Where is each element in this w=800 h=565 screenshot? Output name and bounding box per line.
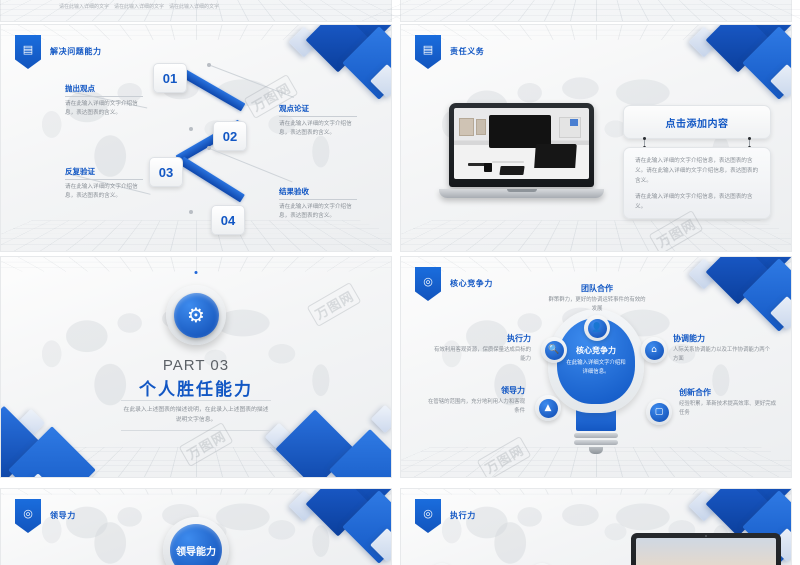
laptop-mockup (449, 103, 594, 198)
step-caption-1: 抛出观点 请在此输入详细的文字介绍信息，表达图表的含义。 (65, 83, 143, 117)
node-execution[interactable]: 🔍 (541, 337, 567, 363)
slide-header: ◎ 执行力 (415, 499, 476, 533)
ppt-template-preview: 请在此输入详细的文字 请在此输入详细的文字 请在此输入详细的文字 ▤ 解决问题能… (0, 0, 800, 565)
leadership-label: 领导能力 (170, 524, 222, 565)
step-number-2: 02 (213, 121, 247, 151)
node-leadership[interactable]: ▲ (535, 395, 561, 421)
accent-dot (195, 271, 198, 274)
gear-person-icon: ⚙ (174, 293, 219, 338)
bulb-title: 核心竞争力 (576, 345, 616, 356)
clipped-slide-left: 请在此输入详细的文字 请在此输入详细的文字 请在此输入详细的文字 (0, 0, 392, 22)
slide-header: ◎ 核心竞争力 (415, 267, 493, 301)
step-number-4: 04 (211, 205, 245, 235)
grid-floor (0, 221, 392, 251)
slide-header-title: 核心竞争力 (450, 278, 493, 289)
target-icon: ◎ (415, 267, 441, 301)
part-number: PART 03 (1, 357, 391, 374)
laptop-lid (449, 103, 594, 187)
caption-execution: 执行力 有效利用客观资源，保质保量达成目标的能力 (431, 333, 531, 363)
slide-header-title: 解决问题能力 (50, 46, 102, 57)
laptop-base (439, 189, 604, 198)
clipped-text: 请在此输入详细的文字 请在此输入详细的文字 请在此输入详细的文字 (59, 3, 219, 10)
slide-leadership[interactable]: ◎ 领导力 领导能力 (0, 488, 392, 565)
grid-floor (0, 447, 392, 477)
slide-header-title: 责任义务 (450, 46, 484, 57)
cap-icon: ▲ (539, 399, 558, 418)
slide-header: ▤ 责任义务 (415, 35, 484, 69)
medallion: ⚙ (166, 285, 226, 345)
watermark: 万图网 (477, 436, 532, 478)
node-team[interactable]: 👤 (584, 315, 610, 341)
content-panel-header[interactable]: 点击添加内容 (623, 105, 771, 139)
part-description: 在此录入上述图表的描述说明，在此录入上述图表的描述说明文字信息。 (121, 400, 271, 431)
grid-top (0, 488, 392, 495)
step-caption-3: 反复验证 请在此输入详细的文字介绍信息，表达图表的含义。 (65, 166, 143, 200)
grid-floor (400, 221, 792, 251)
leadership-circle: 领导能力 (163, 517, 229, 565)
grid-top (0, 256, 392, 271)
mobile-icon: ▢ (650, 403, 669, 422)
laptop-screen (454, 108, 589, 179)
bulb-desc: 在此输入详细文字介绍和详细信息。 (565, 359, 627, 376)
panel-paragraph-2: 请在此输入详细的文字介绍信息，表达图表的含义。 (635, 193, 759, 213)
caption-coordination: 协调能力 人际关系协调能力以及工作协调能力两个方面 (673, 333, 773, 363)
target-icon: ◎ (15, 499, 41, 533)
node-coordination[interactable]: ⌂ (641, 337, 667, 363)
target-icon: ◎ (415, 499, 441, 533)
slide-problem-solving[interactable]: ▤ 解决问题能力 01 02 03 04 抛出观点 请在此输入详细的文字介绍信息… (0, 24, 392, 252)
slide-header-title: 领导力 (50, 510, 76, 521)
step-number-1: 01 (153, 63, 187, 93)
home-icon: ⌂ (645, 341, 664, 360)
presentation-icon: ▤ (15, 35, 41, 69)
search-icon: 🔍 (545, 341, 564, 360)
panel-paragraph-1: 请在此输入详细的文字介绍信息，表达图表的含义。请在此输入详细的文字介绍信息，表达… (635, 157, 759, 186)
watermark: 万图网 (307, 282, 362, 327)
person-icon: 👤 (588, 319, 607, 338)
diamond-cluster-top-right (257, 488, 392, 565)
connector-bar-3 (179, 157, 245, 203)
presentation-icon: ▤ (415, 35, 441, 69)
panel-title: 点击添加内容 (666, 115, 729, 130)
content-panel-body: 请在此输入详细的文字介绍信息，表达图表的含义。请在此输入详细的文字介绍信息，表达… (623, 147, 771, 219)
slide-part-cover[interactable]: ⚙ PART 03 个人胜任能力 在此录入上述图表的描述说明，在此录入上述图表的… (0, 256, 392, 478)
slide-execution[interactable]: ◎ 执行力 制度执行力 依据规定制度执行任务 应急执行力 灵活应变，妥善处理意外 (400, 488, 792, 565)
caption-innovation: 创新合作 经验积累，革新技术提高效率、更好完成任务 (679, 387, 779, 417)
caption-team: 团队合作 群策群力，更好的协调运转事件的有效的发展 (547, 283, 647, 313)
diamond-cluster-top-right (657, 24, 792, 117)
slide-core-competence[interactable]: ◎ 核心竞争力 核心竞争力 在此输入详细文字介绍和详细信息。 👤 🔍 ⌂ ▲ ▢… (400, 256, 792, 478)
grid-top (400, 488, 792, 495)
step-number-3: 03 (149, 157, 183, 187)
caption-leadership: 领导力 在管辖的范围内，充分地利用人力和客观条件 (425, 385, 525, 415)
clipped-slide-strip-top: 请在此输入详细的文字 请在此输入详细的文字 请在此输入详细的文字 (0, 0, 800, 24)
step-caption-2: 观点论证 请在此输入详细的文字介绍信息，表达图表的含义。 (279, 103, 357, 137)
node-innovation[interactable]: ▢ (646, 399, 672, 425)
step-caption-4: 结果验收 请在此输入详细的文字介绍信息，表达图表的含义。 (279, 186, 357, 220)
slide-header: ▤ 解决问题能力 (15, 35, 102, 69)
slide-responsibility[interactable]: ▤ 责任义务 点击添加内容 请在此输入详细的文字介绍信息，表达图表的含义。请在此… (400, 24, 792, 252)
part-title: 个人胜任能力 (1, 375, 391, 400)
slide-header-title: 执行力 (450, 510, 476, 521)
slide-header: ◎ 领导力 (15, 499, 76, 533)
clipped-slide-right (400, 0, 792, 22)
laptop-mockup (631, 533, 781, 565)
